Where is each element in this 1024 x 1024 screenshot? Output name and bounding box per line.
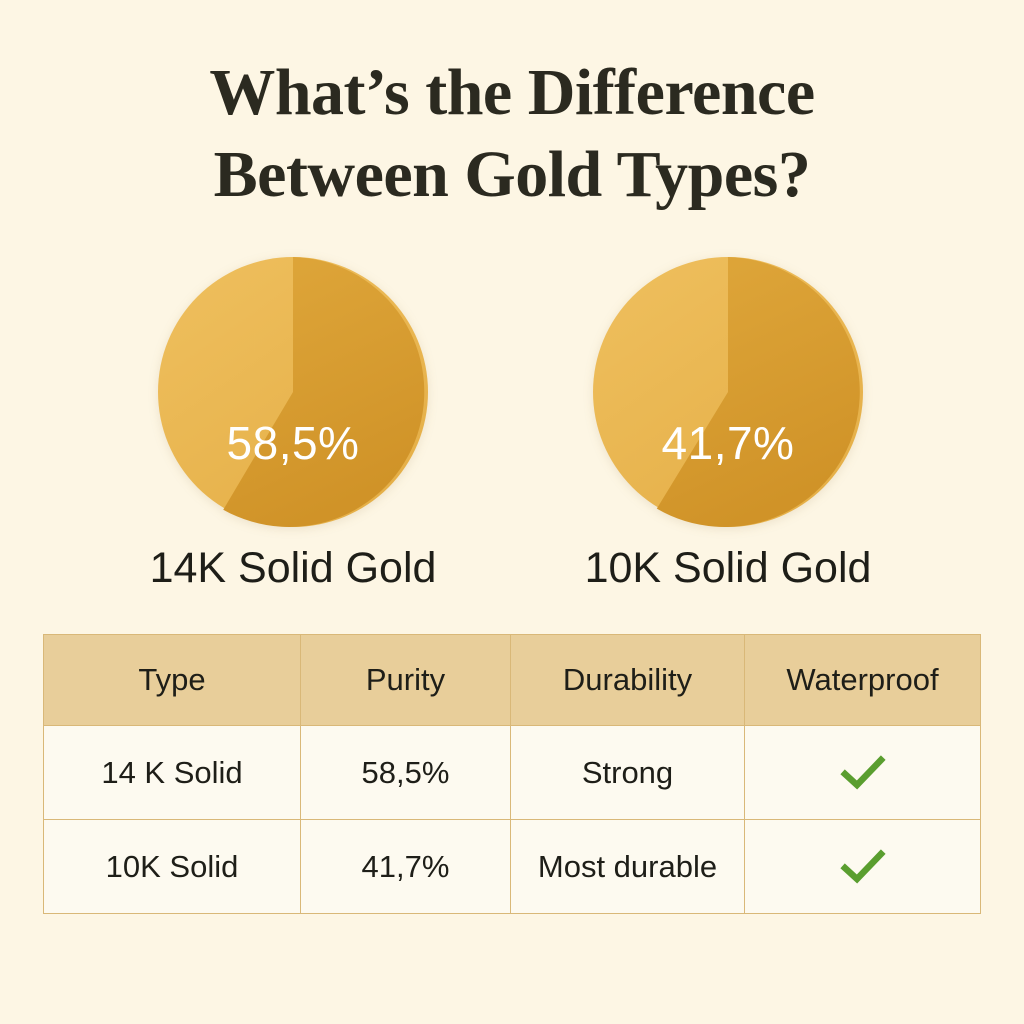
pie-chart-14k-graphic [157,256,429,528]
table-row: 10K Solid 41,7% Most durable [44,820,981,914]
cell-waterproof [745,726,981,820]
cell-type: 10K Solid [44,820,301,914]
page-title: What’s the Difference Between Gold Types… [0,52,1024,216]
pie-chart-10k: 41,7% [592,256,864,528]
cell-durability: Strong [511,726,745,820]
column-header-durability: Durability [511,635,745,726]
pie-caption-10k: 10K Solid Gold [513,544,943,593]
column-header-type: Type [44,635,301,726]
check-icon [840,755,886,791]
pie-charts-row: 58,5% 41,7% [0,256,1024,536]
pie-value-label-10k: 41,7% [592,416,864,470]
page-title-line-2: Between Gold Types? [0,134,1024,216]
pie-chart-14k: 58,5% [157,256,429,528]
pie-value-label-14k: 58,5% [157,416,429,470]
column-header-purity: Purity [301,635,511,726]
cell-purity: 58,5% [301,726,511,820]
page-title-line-1: What’s the Difference [0,52,1024,134]
table-header-row: Type Purity Durability Waterproof [44,635,981,726]
gold-comparison-table: Type Purity Durability Waterproof 14 K S… [43,634,981,914]
pie-captions-row: 14K Solid Gold 10K Solid Gold [0,544,1024,608]
cell-purity: 41,7% [301,820,511,914]
cell-durability: Most durable [511,820,745,914]
cell-type: 14 K Solid [44,726,301,820]
table-header: Type Purity Durability Waterproof [44,635,981,726]
pie-caption-14k: 14K Solid Gold [78,544,508,593]
pie-chart-10k-graphic [592,256,864,528]
table-row: 14 K Solid 58,5% Strong [44,726,981,820]
table-body: 14 K Solid 58,5% Strong 10K Solid 41,7% … [44,726,981,914]
cell-waterproof [745,820,981,914]
column-header-waterproof: Waterproof [745,635,981,726]
check-icon [840,849,886,885]
